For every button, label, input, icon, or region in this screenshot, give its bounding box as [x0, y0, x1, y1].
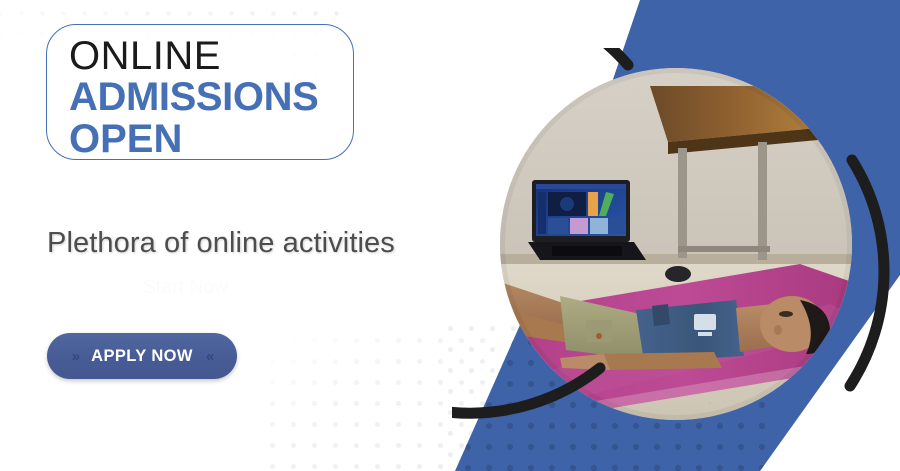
photo-composition — [452, 48, 900, 471]
apply-now-label: APPLY NOW — [91, 348, 193, 365]
chevron-left-double-icon: « — [206, 349, 212, 364]
ring-arc-group — [452, 48, 900, 471]
headline-line-admissions: ADMISSIONS — [69, 76, 353, 118]
apply-now-button[interactable]: » APPLY NOW « — [47, 333, 237, 379]
ghost-start-now-text: Start Now — [143, 277, 228, 299]
promo-banner: ONLINE ADMISSIONS OPEN Plethora of onlin… — [0, 0, 900, 471]
right-ring-arc — [850, 160, 884, 386]
headline-box: ONLINE ADMISSIONS OPEN — [46, 24, 354, 160]
chevron-right-double-icon: » — [72, 349, 78, 364]
headline-line-open: OPEN — [69, 118, 353, 160]
headline-line-online: ONLINE — [69, 36, 353, 76]
left-ring-arc — [452, 48, 628, 413]
subheading-text: Plethora of online activities — [47, 227, 395, 260]
